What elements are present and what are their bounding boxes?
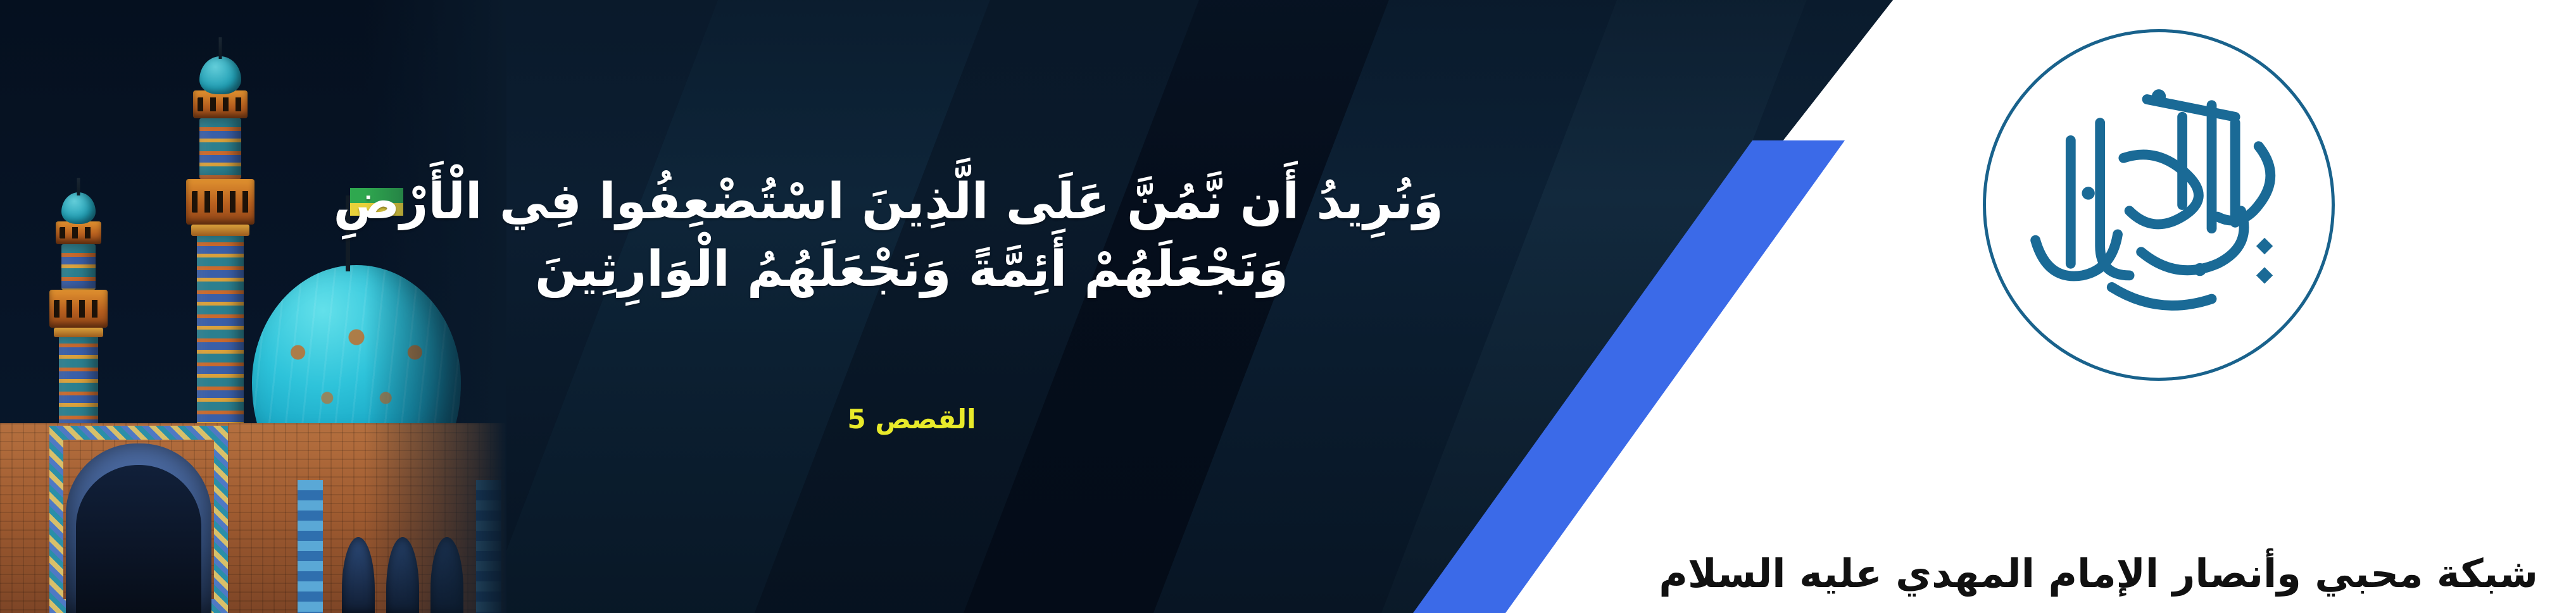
minaret-cap <box>61 192 96 224</box>
quran-verse: وَنُرِيدُ أَن نَّمُنَّ عَلَى الَّذِينَ ا… <box>380 170 1443 302</box>
iwan-arch <box>66 443 211 613</box>
jamkaran-mosque-photo <box>0 0 506 613</box>
diagonal-band <box>713 0 1228 613</box>
minaret-gallery <box>186 179 254 225</box>
site-banner: وَنُرِيدُ أَن نَّمُنَّ عَلَى الَّذِينَ ا… <box>0 0 2576 613</box>
minaret-gallery <box>49 290 108 328</box>
minaret-upper-gallery <box>56 221 101 244</box>
facade-tile-panel <box>298 480 323 613</box>
minaret-upper-shaft <box>199 118 241 179</box>
site-name: شبكة محبي وأنصار الإمام المهدي عليه السل… <box>1659 550 2538 597</box>
diagonal-band <box>1340 0 1836 613</box>
minaret-upper-gallery <box>193 90 248 118</box>
minaret-band <box>191 225 249 236</box>
emblem-calligraphy-art <box>2012 58 2306 352</box>
minaret-band <box>54 328 103 337</box>
facade-tile-panel <box>476 480 501 613</box>
verse-line-1: وَنُرِيدُ أَن نَّمُنَّ عَلَى الَّذِينَ ا… <box>380 170 1443 235</box>
diagonal-band <box>922 0 1418 613</box>
minaret-cap <box>199 56 241 94</box>
minaret-finial <box>219 37 222 59</box>
minaret-upper-shaft <box>61 244 96 290</box>
verse-reference: القصص 5 <box>380 404 1443 435</box>
calligraphy-emblem: يا قائم آل محمد <box>1983 29 2335 381</box>
diagonal-band <box>441 0 1019 613</box>
verse-line-2: وَنَجْعَلَهُمْ أَئِمَّةً وَنَجْعَلَهُمُ … <box>380 237 1443 302</box>
minaret-finial <box>77 178 80 195</box>
